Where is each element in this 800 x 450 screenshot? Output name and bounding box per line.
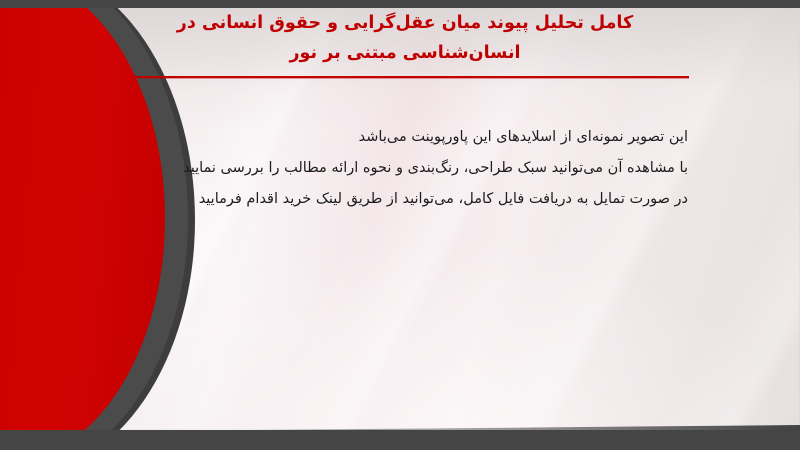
dark-top-band xyxy=(0,0,800,8)
slide-body-text: این تصویر نمونه‌ای از اسلایدهای این پاور… xyxy=(108,122,688,215)
body-line-1: این تصویر نمونه‌ای از اسلایدهای این پاور… xyxy=(108,122,688,153)
slide-canvas: کامل تحلیل پیوند میان عقل‌گرایی و حقوق ا… xyxy=(0,0,800,450)
dark-bottom-band xyxy=(0,430,800,450)
slide-title: کامل تحلیل پیوند میان عقل‌گرایی و حقوق ا… xyxy=(120,8,690,68)
red-horizontal-rule xyxy=(133,76,689,78)
title-line-1: کامل تحلیل پیوند میان عقل‌گرایی و حقوق ا… xyxy=(120,8,690,38)
body-line-3: در صورت تمایل به دریافت فایل کامل، می‌تو… xyxy=(108,184,688,215)
title-line-2: انسان‌شناسی مبتنی بر نور xyxy=(120,38,690,68)
body-line-2: با مشاهده آن می‌توانید سبک طراحی، رنگ‌بن… xyxy=(108,153,688,184)
